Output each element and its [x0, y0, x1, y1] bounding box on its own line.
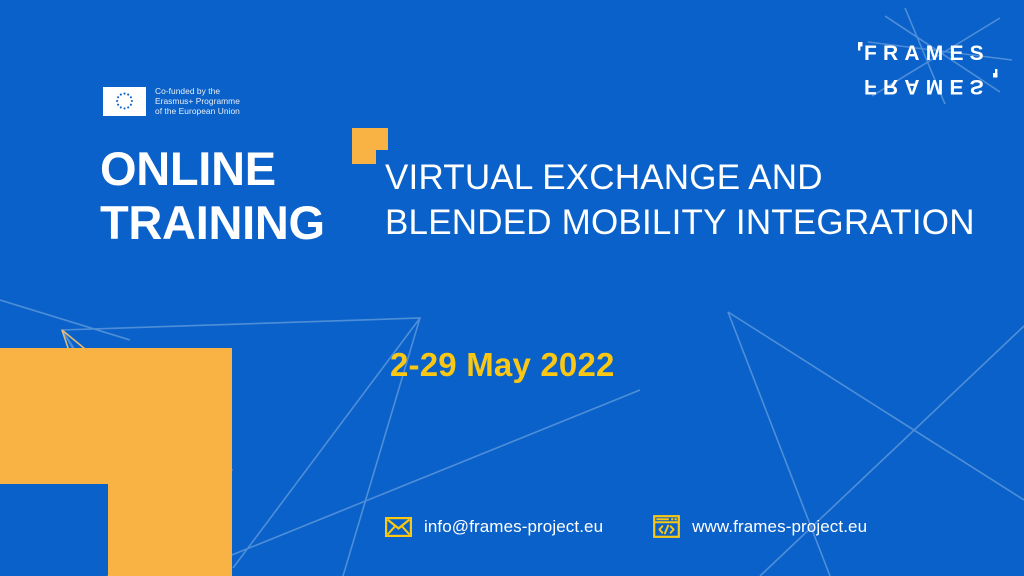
presentation-slide: Co-funded by the Erasmus+ Programme of t…	[0, 0, 1024, 576]
erasmus-text-line2: Erasmus+ Programme	[155, 96, 240, 106]
eu-flag-icon	[103, 87, 146, 116]
erasmus-cofunding-logo: Co-funded by the Erasmus+ Programme of t…	[103, 86, 240, 117]
code-window-icon	[653, 515, 680, 538]
erasmus-text-line3: of the European Union	[155, 106, 240, 116]
orange-l-shape-decor	[0, 348, 232, 576]
orange-step-square-decor	[352, 128, 388, 164]
frames-brand-logo: FRAMES FRAMES	[848, 22, 1008, 96]
event-date: 2-29 May 2022	[390, 346, 615, 384]
contact-email[interactable]: info@frames-project.eu	[385, 517, 603, 537]
frames-wordmark: FRAMES	[864, 42, 990, 65]
erasmus-cofunding-text: Co-funded by the Erasmus+ Programme of t…	[155, 86, 240, 117]
contact-email-label: info@frames-project.eu	[424, 517, 603, 537]
contact-website[interactable]: www.frames-project.eu	[653, 515, 867, 538]
frames-wordmark-mirrored: FRAMES	[864, 75, 990, 96]
page-subtitle: VIRTUAL EXCHANGE AND BLENDED MOBILITY IN…	[385, 155, 975, 245]
envelope-icon	[385, 517, 412, 537]
erasmus-text-line1: Co-funded by the	[155, 86, 240, 96]
page-title: ONLINE TRAINING	[100, 142, 325, 250]
contact-website-label: www.frames-project.eu	[692, 517, 867, 537]
footer-contacts: info@frames-project.eu www.frames-projec…	[385, 515, 867, 538]
